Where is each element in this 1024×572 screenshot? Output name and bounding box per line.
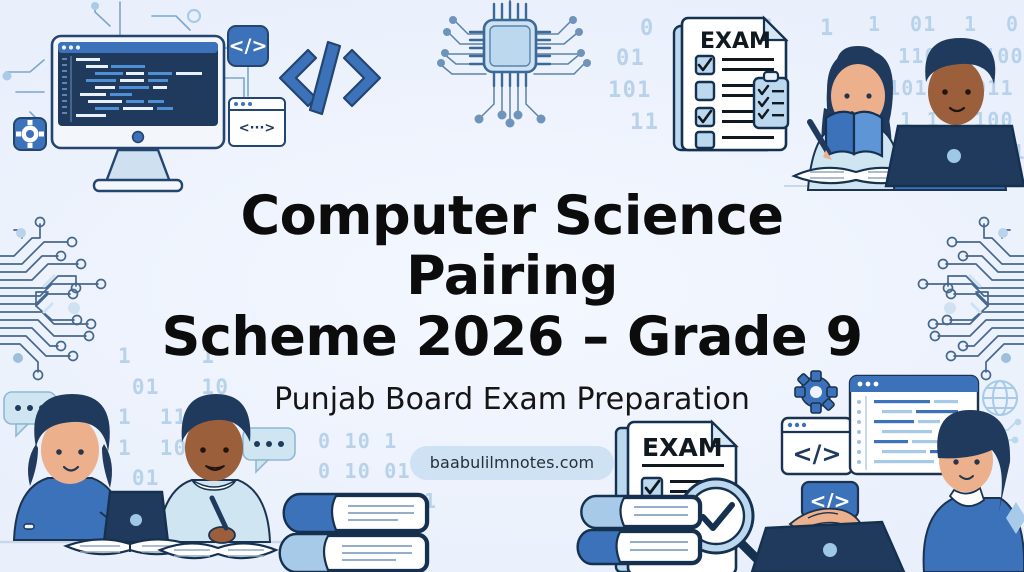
circuit-fan-left [0,190,142,390]
poster-canvas: </> <···> [0,0,1024,572]
svg-text:</>: </> [229,35,268,57]
exam-students-illustration: EXAM [614,0,1024,200]
chat-bubble-right [243,428,295,472]
globe-icon [983,381,1017,415]
student-male-writing [158,394,270,543]
open-book-right [160,543,276,558]
circuit-fan-right [882,190,1024,390]
laptop [104,492,168,542]
page-title: Computer Science Pairing Scheme 2026 – G… [142,186,882,367]
stacked-books [280,494,428,572]
cpu-chip-illustration [398,0,628,152]
code-tag-badge: </> [228,26,268,66]
svg-text:EXAM: EXAM [642,433,723,462]
monitor-with-code-editor [52,36,224,191]
svg-text:<···>: <···> [239,121,276,136]
code-tag-window: </> [782,418,852,474]
students-studying-illustration [0,372,440,572]
svg-text:EXAM: EXAM [700,29,771,54]
laptop [886,126,1024,186]
gear-icon [14,118,46,150]
large-code-tag-icon [272,28,392,128]
desktop-coding-illustration: </> <···> [0,0,300,200]
website-badge[interactable]: baabulilmnotes.com [410,446,614,480]
page-title-line-2: Scheme 2026 – Grade 9 [161,305,862,368]
gear-icon [795,371,837,413]
svg-text:</>: </> [793,440,842,468]
clipboard [754,72,788,128]
laptop [752,522,904,572]
page-title-line-1: Computer Science Pairing [240,184,783,307]
open-book [826,112,882,156]
